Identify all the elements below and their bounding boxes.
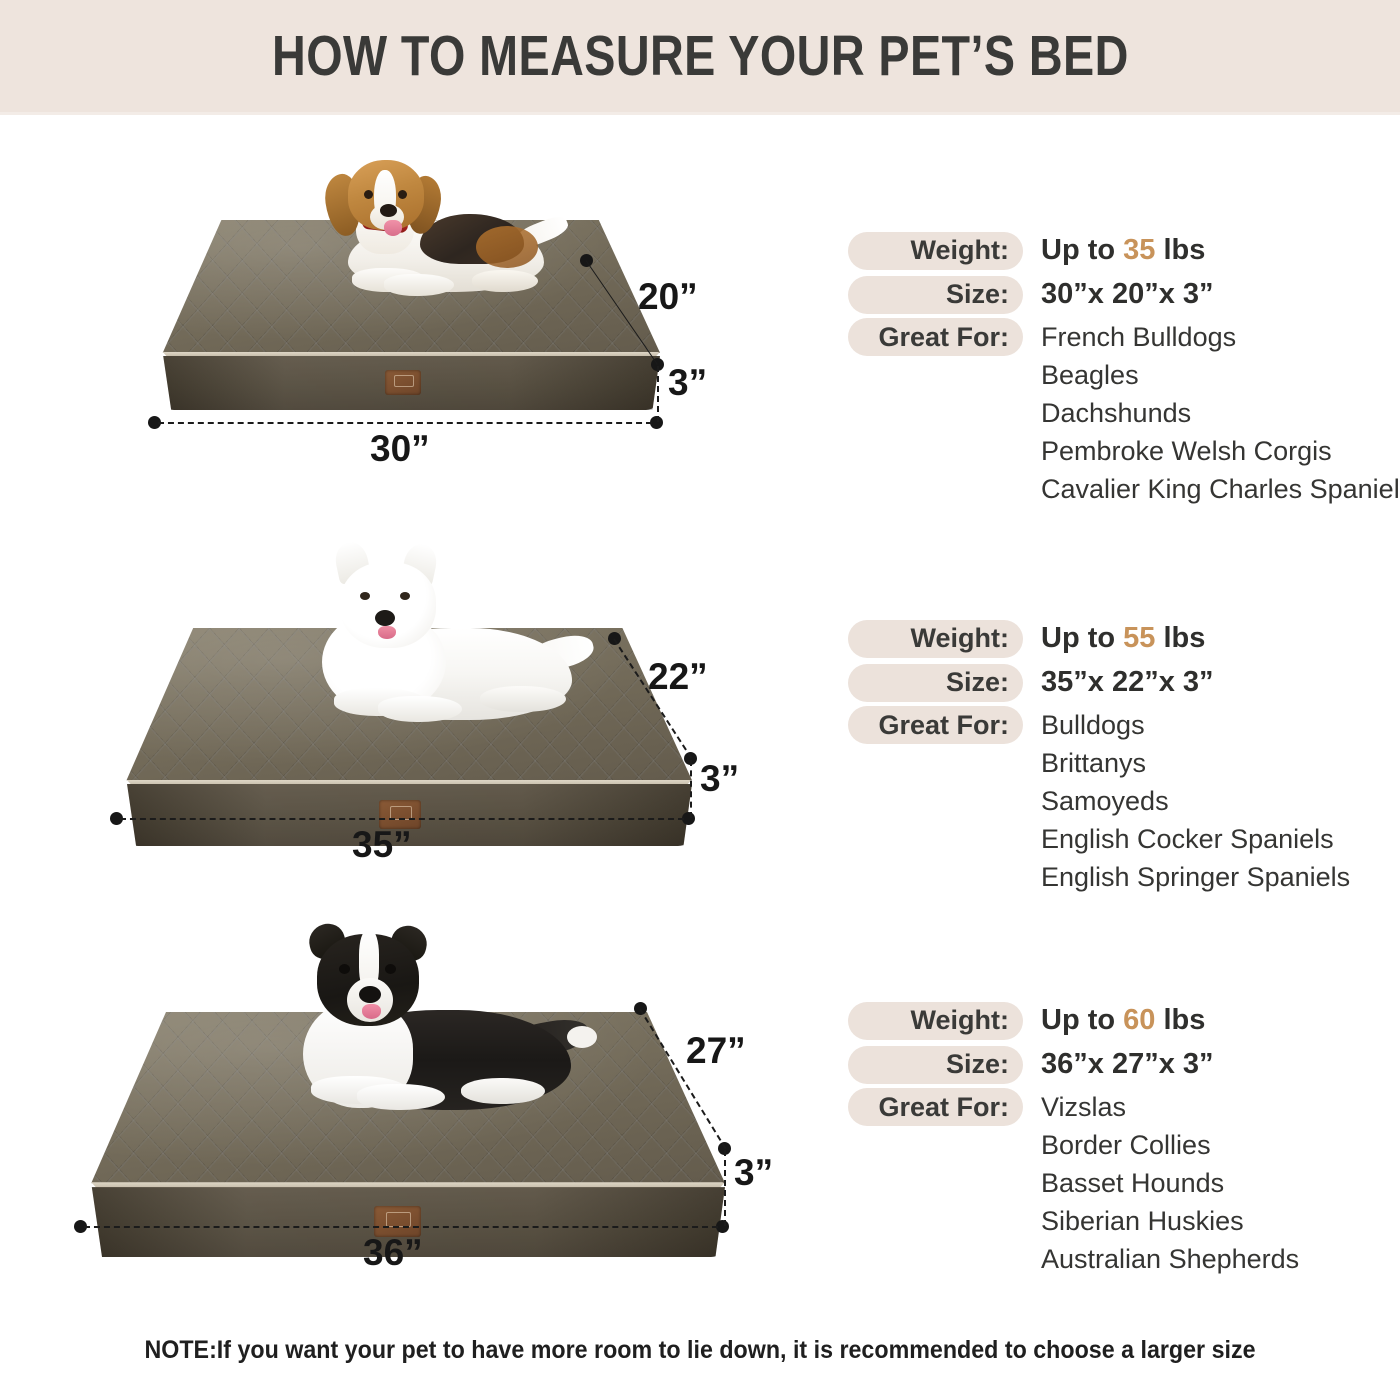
dog-border-collie <box>255 930 585 1145</box>
dim-label-height: 3” <box>668 362 707 404</box>
beagle-front-leg-right <box>384 274 454 296</box>
size-value: 30”x 20”x 3” <box>1041 278 1214 311</box>
samoyed-eye-left <box>360 592 370 600</box>
list-item: French Bulldogs <box>1041 318 1400 356</box>
product-row-small: 30” 20” 3” Weight: Up to 35 lbs Size: 30… <box>0 150 1400 480</box>
spec-size-row: Size: 36”x 27”x 3” <box>848 1044 1299 1085</box>
samoyed-nose <box>375 610 395 626</box>
weight-label: Weight: <box>848 620 1023 658</box>
beagle-nose <box>380 204 397 217</box>
dim-line-width <box>158 422 652 424</box>
spec-panel-medium: Weight: Up to 55 lbs Size: 35”x 22”x 3” … <box>848 618 1350 896</box>
samoyed-eye-right <box>400 592 410 600</box>
spec-weight-row: Weight: Up to 35 lbs <box>848 230 1400 271</box>
weight-label: Weight: <box>848 1002 1023 1040</box>
spec-panel-small: Weight: Up to 35 lbs Size: 30”x 20”x 3” … <box>848 230 1400 508</box>
dim-label-width: 30” <box>370 428 430 470</box>
list-item: Australian Shepherds <box>1041 1240 1299 1278</box>
weight-prefix: Up to <box>1041 234 1115 266</box>
dim-label-height: 3” <box>734 1152 773 1194</box>
weight-unit: lbs <box>1163 234 1205 266</box>
dog-beagle <box>300 164 560 316</box>
size-value: 36”x 27”x 3” <box>1041 1048 1214 1081</box>
greatfor-label: Great For: <box>848 706 1023 744</box>
page-title: HOW TO MEASURE YOUR PET’S BED <box>272 23 1129 89</box>
greatfor-label: Great For: <box>848 318 1023 356</box>
dim-label-depth: 22” <box>648 656 708 698</box>
dim-label-width: 35” <box>352 824 412 866</box>
list-item: Dachshunds <box>1041 394 1400 432</box>
collie-tongue <box>362 1004 381 1019</box>
collie-eye-left <box>339 964 350 974</box>
weight-unit: lbs <box>1163 1004 1205 1036</box>
weight-value: Up to 60 lbs <box>1041 1004 1205 1037</box>
list-item: Border Collies <box>1041 1126 1299 1164</box>
list-item: Cavalier King Charles Spaniels <box>1041 470 1400 508</box>
spec-panel-large: Weight: Up to 60 lbs Size: 36”x 27”x 3” … <box>848 1000 1299 1278</box>
breed-list: French Bulldogs Beagles Dachshunds Pembr… <box>1041 318 1400 508</box>
list-item: Vizslas <box>1041 1088 1299 1126</box>
spec-weight-row: Weight: Up to 60 lbs <box>848 1000 1299 1041</box>
beagle-tan-marking <box>476 226 538 268</box>
spec-greatfor-row: Great For: Vizslas Border Collies Basset… <box>848 1088 1299 1278</box>
spec-weight-row: Weight: Up to 55 lbs <box>848 618 1350 659</box>
beagle-eye-left <box>364 190 373 199</box>
dim-label-height: 3” <box>700 758 739 800</box>
samoyed-hind-leg <box>480 686 566 712</box>
weight-prefix: Up to <box>1041 1004 1115 1036</box>
dim-label-width: 36” <box>363 1232 423 1274</box>
size-value: 35”x 22”x 3” <box>1041 666 1214 699</box>
weight-number: 60 <box>1123 1004 1155 1036</box>
list-item: Basset Hounds <box>1041 1164 1299 1202</box>
brand-logo-patch <box>385 370 422 395</box>
list-item: Siberian Huskies <box>1041 1202 1299 1240</box>
weight-value: Up to 55 lbs <box>1041 622 1205 655</box>
collie-eye-right <box>385 964 396 974</box>
footer-note: NOTE:If you want your pet to have more r… <box>49 1336 1351 1365</box>
header-band: HOW TO MEASURE YOUR PET’S BED <box>0 0 1400 115</box>
dim-line-height <box>690 760 692 818</box>
dim-label-depth: 20” <box>638 276 698 318</box>
weight-unit: lbs <box>1163 622 1205 654</box>
beagle-hind-leg <box>472 270 538 292</box>
samoyed-tongue <box>378 626 396 639</box>
collie-nose <box>359 986 381 1003</box>
product-row-large: 36” 27” 3” Weight: Up to 60 lbs Size: 36… <box>0 890 1400 1290</box>
breed-list: Bulldogs Brittanys Samoyeds English Cock… <box>1041 706 1350 896</box>
spec-size-row: Size: 30”x 20”x 3” <box>848 274 1400 315</box>
dog-samoyed <box>282 556 582 752</box>
spec-greatfor-row: Great For: French Bulldogs Beagles Dachs… <box>848 318 1400 508</box>
weight-number: 55 <box>1123 622 1155 654</box>
bed-illustration-medium <box>112 628 692 846</box>
dim-line-width <box>120 818 684 820</box>
samoyed-front-leg-right <box>378 696 462 722</box>
beagle-tongue <box>384 220 402 236</box>
collie-tail-tip <box>567 1026 597 1048</box>
collie-front-leg-right <box>357 1084 445 1110</box>
bed-illustration-large <box>75 1012 725 1257</box>
dim-line-height <box>724 1150 726 1226</box>
list-item: Brittanys <box>1041 744 1350 782</box>
collie-hind-leg <box>461 1078 545 1104</box>
weight-value: Up to 35 lbs <box>1041 234 1205 267</box>
size-label: Size: <box>848 664 1023 702</box>
dim-line-height <box>657 366 659 422</box>
list-item: English Cocker Spaniels <box>1041 820 1350 858</box>
list-item: Pembroke Welsh Corgis <box>1041 432 1400 470</box>
product-row-medium: 35” 22” 3” Weight: Up to 55 lbs Size: 35… <box>0 510 1400 900</box>
weight-prefix: Up to <box>1041 622 1115 654</box>
breed-list: Vizslas Border Collies Basset Hounds Sib… <box>1041 1088 1299 1278</box>
weight-label: Weight: <box>848 232 1023 270</box>
size-label: Size: <box>848 1046 1023 1084</box>
list-item: Samoyeds <box>1041 782 1350 820</box>
weight-number: 35 <box>1123 234 1155 266</box>
size-label: Size: <box>848 276 1023 314</box>
spec-size-row: Size: 35”x 22”x 3” <box>848 662 1350 703</box>
greatfor-label: Great For: <box>848 1088 1023 1126</box>
list-item: Beagles <box>1041 356 1400 394</box>
dim-label-depth: 27” <box>686 1030 746 1072</box>
dim-line-width <box>84 1226 718 1228</box>
bed-illustration-small <box>150 220 660 410</box>
spec-greatfor-row: Great For: Bulldogs Brittanys Samoyeds E… <box>848 706 1350 896</box>
list-item: Bulldogs <box>1041 706 1350 744</box>
beagle-eye-right <box>398 190 407 199</box>
